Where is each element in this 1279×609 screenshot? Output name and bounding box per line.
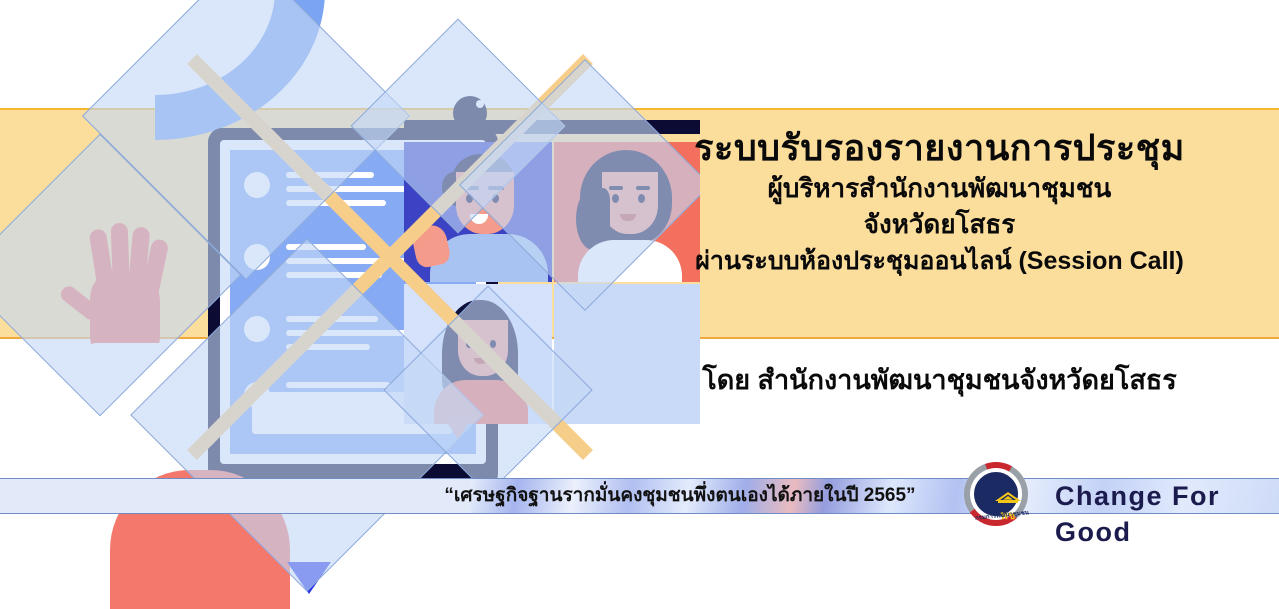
- headline-text-block: ระบบรับรองรายงานการประชุม ผู้บริหารสำนัก…: [600, 126, 1279, 280]
- subtitle-line-1: ผู้บริหารสำนักงานพัฒนาชุมชน: [600, 170, 1279, 206]
- subtitle-line-3: ผ่านระบบห้องประชุมออนไลน์ (Session Call): [600, 242, 1279, 280]
- byline-text: โดย สำนักงานพัฒนาชุมชนจังหวัดยโสธร: [600, 358, 1279, 401]
- page-title: ระบบรับรองรายงานการประชุม: [600, 126, 1279, 170]
- footer-slogan: “เศรษฐกิจฐานรากมั่นคงชุมชนพึ่งตนเองได้ภา…: [400, 479, 960, 513]
- cdd-logo: พช กรมการพัฒนาชุมชน: [962, 458, 1036, 532]
- banner-canvas: ระบบรับรองรายงานการประชุม ผู้บริหารสำนัก…: [0, 0, 1279, 609]
- subtitle-line-2: จังหวัดยโสธร: [600, 206, 1279, 242]
- conference-illustration: [0, 0, 700, 609]
- pavilion-icon: [994, 492, 1022, 506]
- change-for-good-tagline: Change For Good: [1055, 478, 1279, 514]
